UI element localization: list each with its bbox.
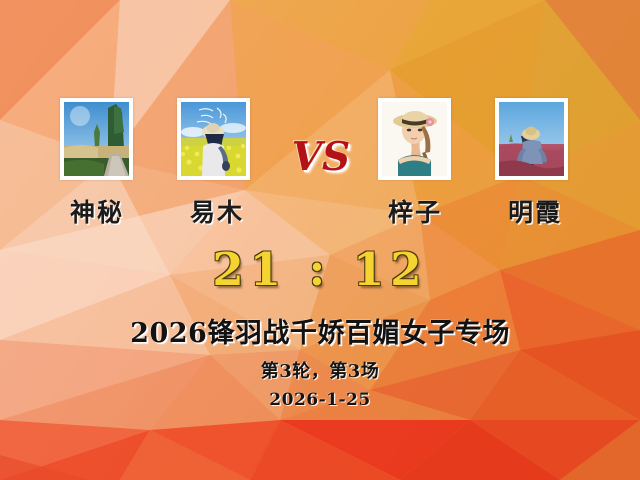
photo-woman-in-pink-grass-field-icon xyxy=(499,102,564,176)
event-date: 2026-1-25 xyxy=(0,390,640,411)
round-label: 第3轮，第3场 xyxy=(0,361,640,383)
avatar-player-4[interactable] xyxy=(495,98,568,180)
avatar-player-1[interactable] xyxy=(60,98,133,180)
player-name-row: 神秘 易木 梓子 明霞 xyxy=(0,198,640,232)
avatar-player-2[interactable] xyxy=(177,98,250,180)
player-name-2: 易木 xyxy=(157,198,277,228)
player-name-1: 神秘 xyxy=(37,198,157,228)
vs-label: VS xyxy=(273,136,369,178)
match-score: 21 : 12 xyxy=(0,245,640,295)
player-name-4: 明霞 xyxy=(475,198,595,228)
illustration-woman-with-straw-hat-icon xyxy=(382,102,447,176)
avatar-player-3[interactable] xyxy=(378,98,451,180)
photo-woman-in-rapeseed-field-icon xyxy=(181,102,246,176)
event-title: 2026锋羽战千娇百媚女子专场 xyxy=(0,318,640,350)
player-name-3: 梓子 xyxy=(355,198,475,228)
photo-path-through-reeds-icon xyxy=(64,102,129,176)
match-poster: VS 神秘 易木 梓子 明霞 21 : 12 2026锋羽战千娇百媚女子专场 第… xyxy=(0,0,640,480)
